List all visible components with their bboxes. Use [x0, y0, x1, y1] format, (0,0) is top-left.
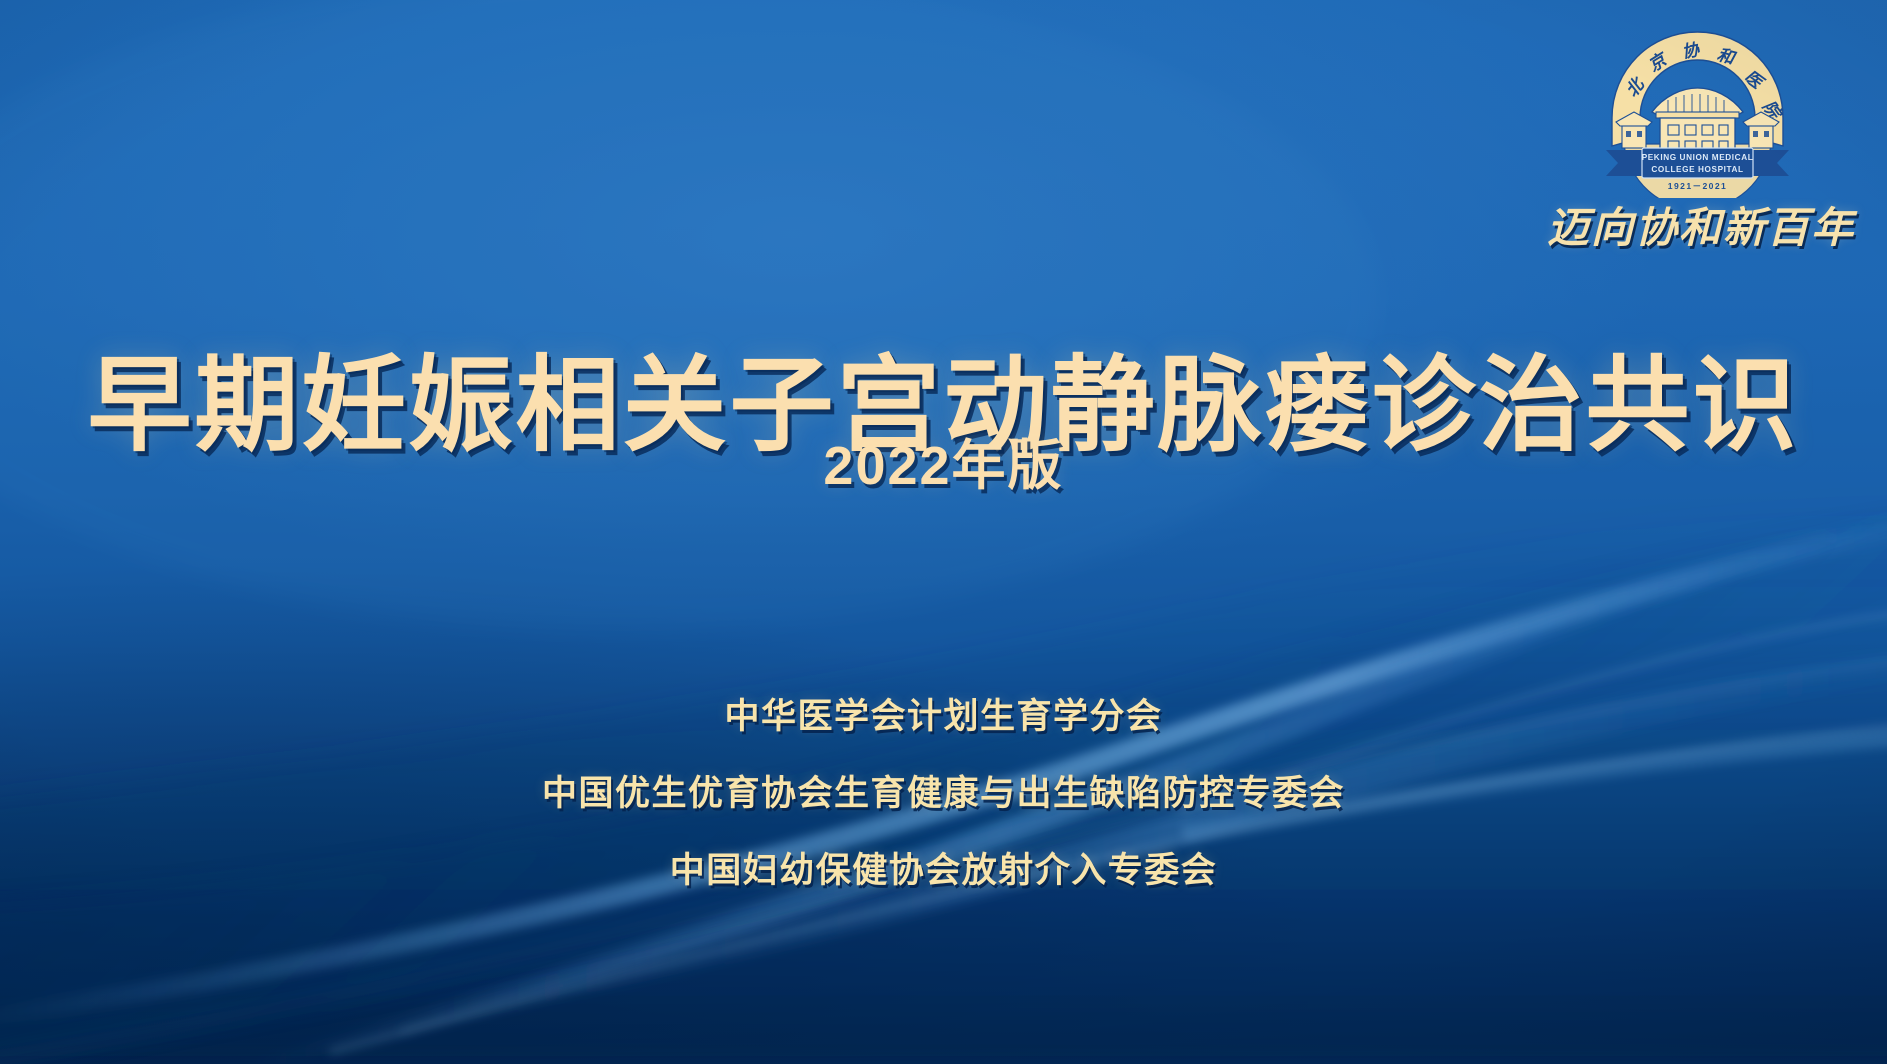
logo-slogan-text: 迈向协和新百年: [1547, 194, 1847, 255]
peking-union-medical-college-hospital-logo-icon: 北 京 协 和 医 院: [1590, 26, 1805, 198]
svg-text:COLLEGE HOSPITAL: COLLEGE HOSPITAL: [1651, 165, 1743, 174]
edition-container: 2022年版: [0, 421, 1887, 500]
hospital-logo-block: 北 京 协 和 医 院: [1547, 26, 1847, 255]
svg-text:1921－2021: 1921－2021: [1667, 181, 1726, 191]
organization-item: 中国妇幼保健协会放射介入专委会: [0, 842, 1887, 893]
edition-label: 2022年版: [823, 421, 1063, 500]
presentation-slide: 北 京 协 和 医 院: [0, 0, 1887, 1064]
organization-list: 中华医学会计划生育学分会 中国优生优育协会生育健康与出生缺陷防控专委会 中国妇幼…: [0, 688, 1887, 893]
organization-item: 中国优生优育协会生育健康与出生缺陷防控专委会: [0, 765, 1887, 816]
svg-text:PEKING UNION MEDICAL: PEKING UNION MEDICAL: [1641, 153, 1753, 162]
organization-item: 中华医学会计划生育学分会: [0, 688, 1887, 739]
